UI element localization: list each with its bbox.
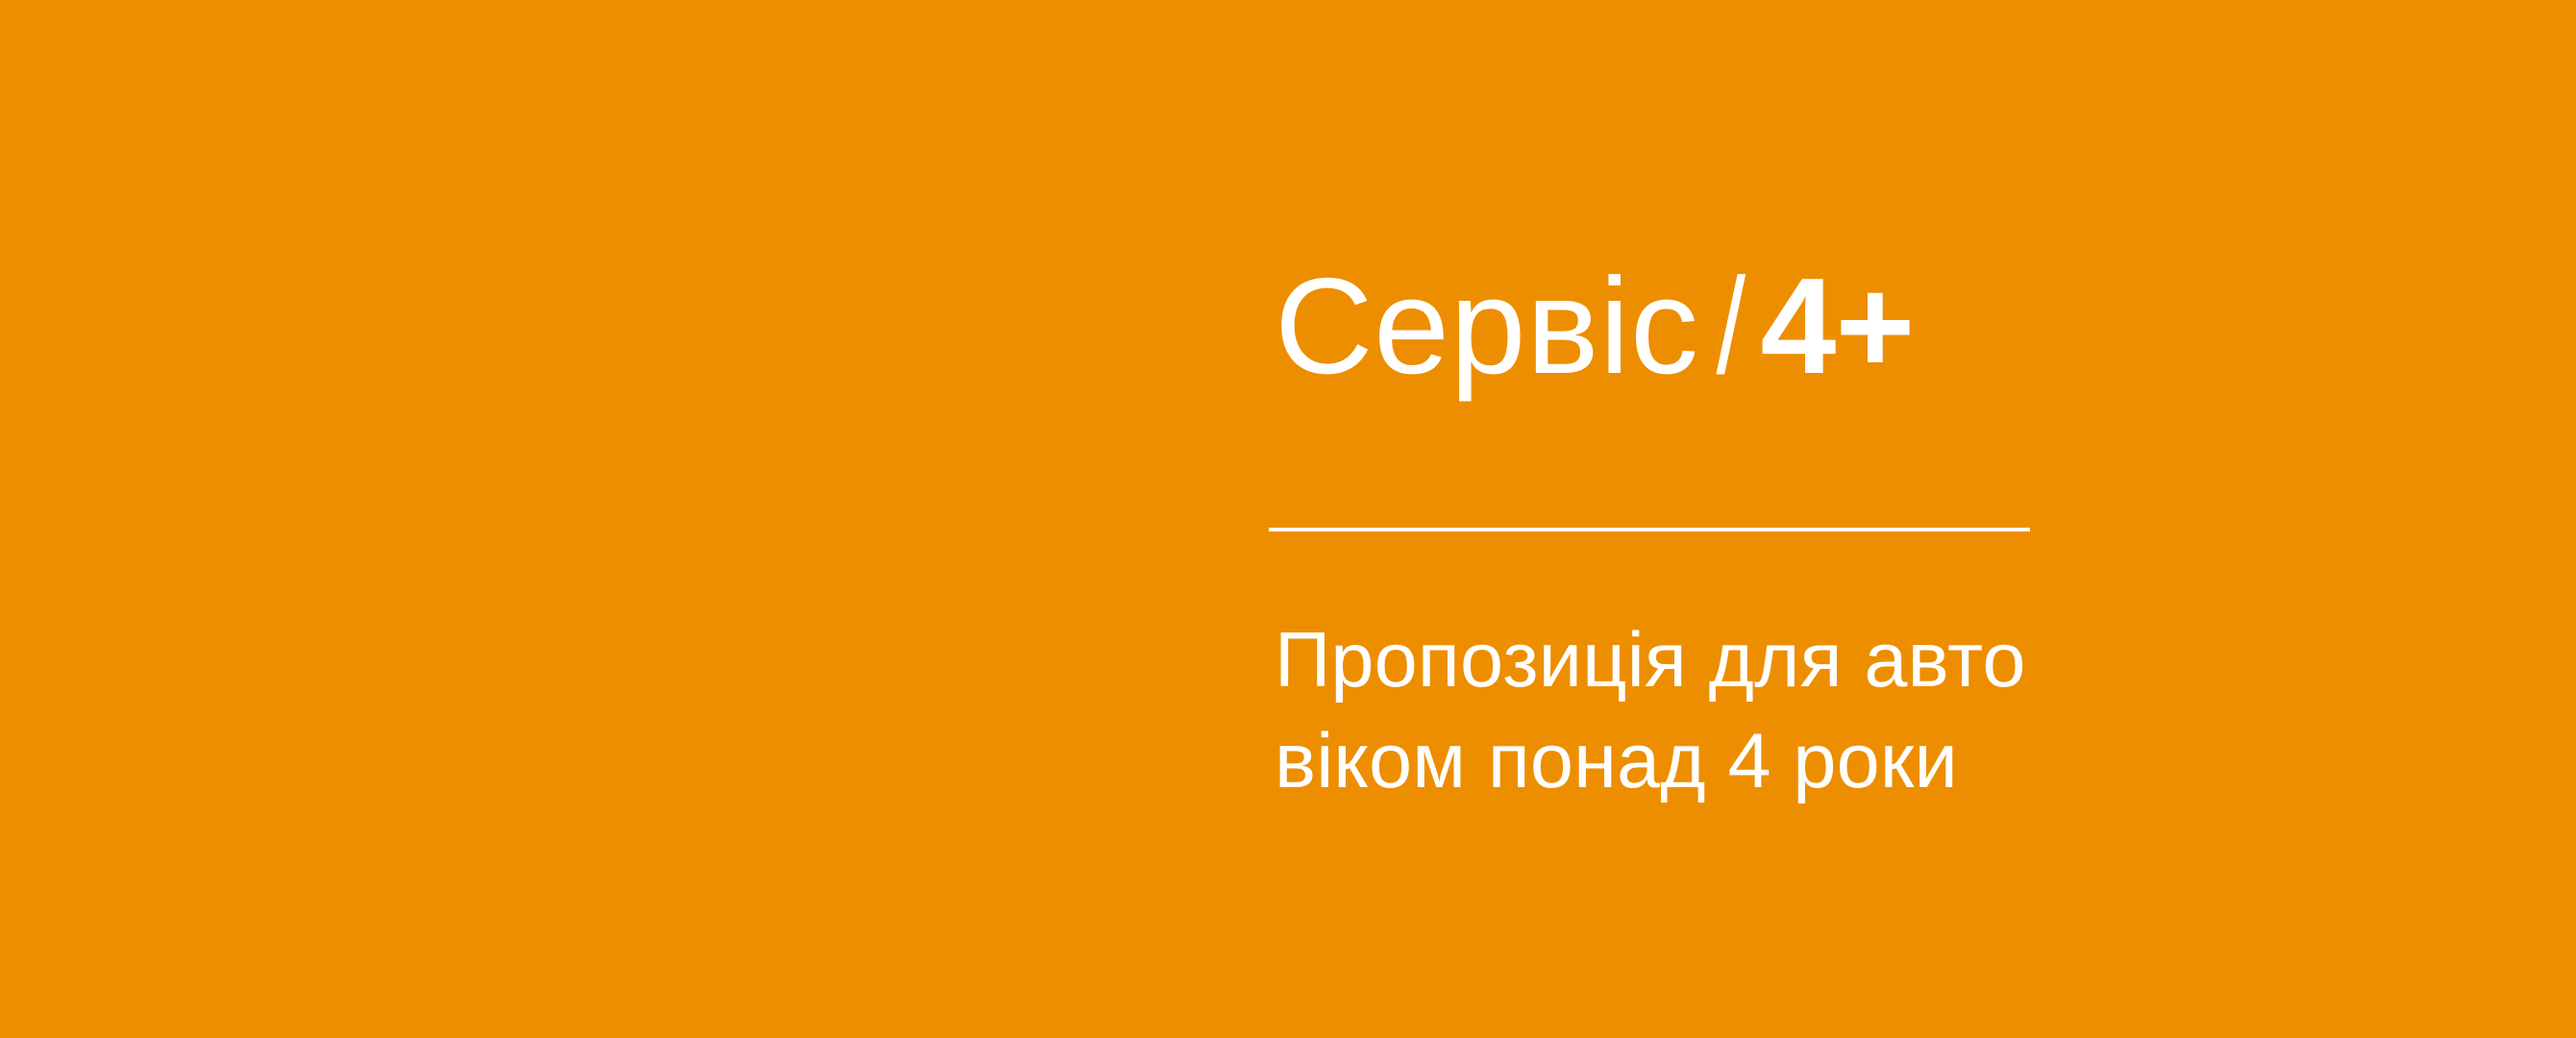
headline-tier-badge: 4+	[1760, 250, 1914, 403]
banner-subtitle: Пропозиція для авто віком понад 4 роки	[1275, 610, 2026, 812]
headline-separator-slash: /	[1717, 259, 1746, 395]
banner-content-block: Сервіс/4+ Пропозиція для авто віком пона…	[1275, 0, 2332, 1038]
subtitle-line-1: Пропозиція для авто	[1275, 610, 2026, 711]
promo-banner: Сервіс/4+ Пропозиція для авто віком пона…	[0, 0, 2576, 1038]
banner-headline: Сервіс/4+	[1275, 259, 1914, 395]
subtitle-line-2: віком понад 4 роки	[1275, 711, 2026, 812]
headline-divider-rule	[1269, 528, 2030, 531]
headline-service-word: Сервіс	[1275, 250, 1698, 403]
